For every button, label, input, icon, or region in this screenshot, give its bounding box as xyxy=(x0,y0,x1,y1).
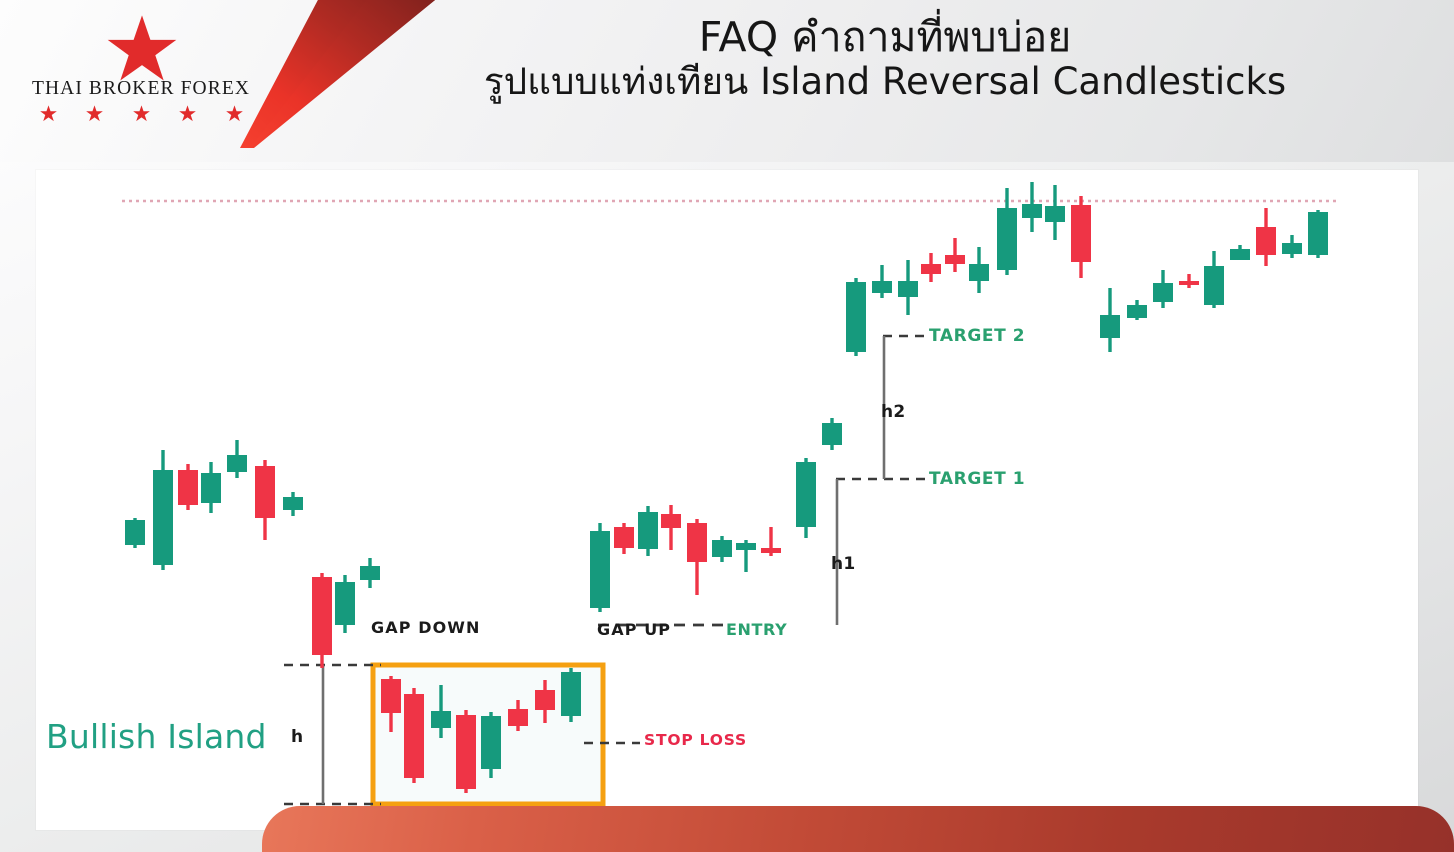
candle-body xyxy=(945,255,965,264)
candle-body xyxy=(360,566,380,580)
star-icon xyxy=(106,14,178,84)
candle-body xyxy=(898,281,918,297)
candle-body xyxy=(1045,206,1065,222)
candle-series-gap-up-consolidation xyxy=(590,418,842,612)
h2-measure-label: h2 xyxy=(881,402,906,422)
candle-body xyxy=(761,548,781,553)
page-title: FAQ คำถามที่พบบ่อย xyxy=(330,14,1440,61)
candle-body xyxy=(1308,212,1328,255)
candle-body xyxy=(125,520,145,545)
candle-body xyxy=(283,497,303,510)
candle-series-gap-down-leadin xyxy=(312,558,380,668)
candle-body xyxy=(712,540,732,557)
candle-body xyxy=(921,264,941,274)
candle-body xyxy=(1100,315,1120,338)
candle-body xyxy=(796,462,816,527)
bullish-island-label: Bullish Island xyxy=(46,717,267,756)
candle-body xyxy=(178,470,198,505)
slide-header: THAI BROKER FOREX FAQ ค xyxy=(0,0,1454,162)
candle-body xyxy=(404,694,424,778)
candle-body xyxy=(997,208,1017,270)
page-subtitle: รูปแบบแท่งเทียน Island Reversal Candlest… xyxy=(330,60,1440,104)
candle-body xyxy=(312,577,332,655)
stop-loss-label: STOP LOSS xyxy=(644,731,747,749)
candle-body xyxy=(1204,266,1224,305)
candle-body xyxy=(822,423,842,445)
candle-body xyxy=(255,466,275,518)
candle-body xyxy=(687,523,707,562)
star-icon xyxy=(133,105,150,122)
target-2-label: TARGET 2 xyxy=(929,326,1025,346)
candle-body xyxy=(590,531,610,608)
candle-body xyxy=(431,711,451,728)
candle-body xyxy=(1127,305,1147,318)
candle-body xyxy=(481,716,501,769)
slide-root: THAI BROKER FOREX FAQ ค xyxy=(0,0,1454,852)
candle-body xyxy=(381,679,401,713)
candle-body xyxy=(969,264,989,281)
candle-body xyxy=(1230,249,1250,260)
gap-down-label: GAP DOWN xyxy=(371,618,481,637)
gap-up-label: GAP UP xyxy=(597,620,671,639)
candle-body xyxy=(1179,281,1199,285)
h1-measure-label: h1 xyxy=(831,554,856,574)
candle-body xyxy=(508,709,528,726)
target-1-label: TARGET 1 xyxy=(929,469,1025,489)
candle-body xyxy=(638,512,658,549)
candle-body xyxy=(153,470,173,565)
bottom-banner xyxy=(262,806,1454,852)
candle-body xyxy=(1256,227,1276,255)
candle-body xyxy=(535,690,555,710)
candle-body xyxy=(872,281,892,293)
star-icon xyxy=(86,105,103,122)
slide-title-block: FAQ คำถามที่พบบ่อย รูปแบบแท่งเทียน Islan… xyxy=(330,14,1440,105)
candle-body xyxy=(335,582,355,625)
candle-body xyxy=(1153,283,1173,302)
star-icon xyxy=(179,105,196,122)
star-icon xyxy=(40,105,57,122)
candle-body xyxy=(1282,243,1302,254)
candle-body xyxy=(1022,204,1042,218)
entry-label: ENTRY xyxy=(726,620,787,639)
candle-series-left-trend xyxy=(125,440,303,570)
candle-body xyxy=(201,473,221,503)
candle-body xyxy=(456,715,476,789)
candle-series-pullback-and-resume xyxy=(1100,208,1328,352)
h-measure-label: h xyxy=(291,727,303,747)
candle-body xyxy=(736,543,756,550)
candle-body xyxy=(227,455,247,472)
candle-body xyxy=(661,514,681,528)
candle-body xyxy=(846,282,866,352)
candle-body xyxy=(614,527,634,548)
candle-body xyxy=(561,672,581,716)
candle-body xyxy=(1071,205,1091,262)
chart-panel: Bullish Island h GAP DOWN STOP LOSS GAP … xyxy=(36,170,1418,830)
